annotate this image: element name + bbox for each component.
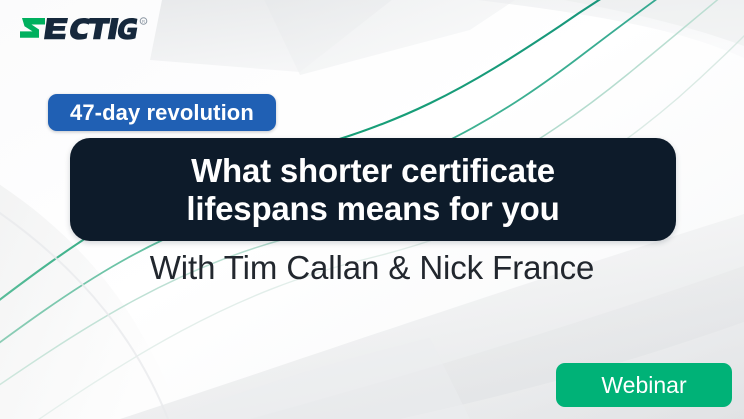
- webinar-banner: R 47-day revolution What shorter certifi…: [0, 0, 744, 419]
- eyebrow-badge-label: 47-day revolution: [70, 102, 254, 124]
- presenters-subtitle-text: With Tim Callan & Nick France: [150, 249, 595, 286]
- webinar-tag: Webinar: [556, 363, 732, 407]
- title-line-1: What shorter certificate: [191, 152, 555, 190]
- webinar-tag-label: Webinar: [601, 374, 686, 397]
- eyebrow-badge: 47-day revolution: [48, 94, 276, 131]
- sectigo-logo: R: [18, 12, 150, 42]
- title-card: What shorter certificate lifespans means…: [70, 138, 676, 241]
- registered-trademark-icon: R: [140, 18, 147, 25]
- sectigo-logo-icon: R: [18, 12, 150, 44]
- title-line-2: lifespans means for you: [186, 190, 559, 228]
- presenters-subtitle: With Tim Callan & Nick France: [0, 248, 744, 288]
